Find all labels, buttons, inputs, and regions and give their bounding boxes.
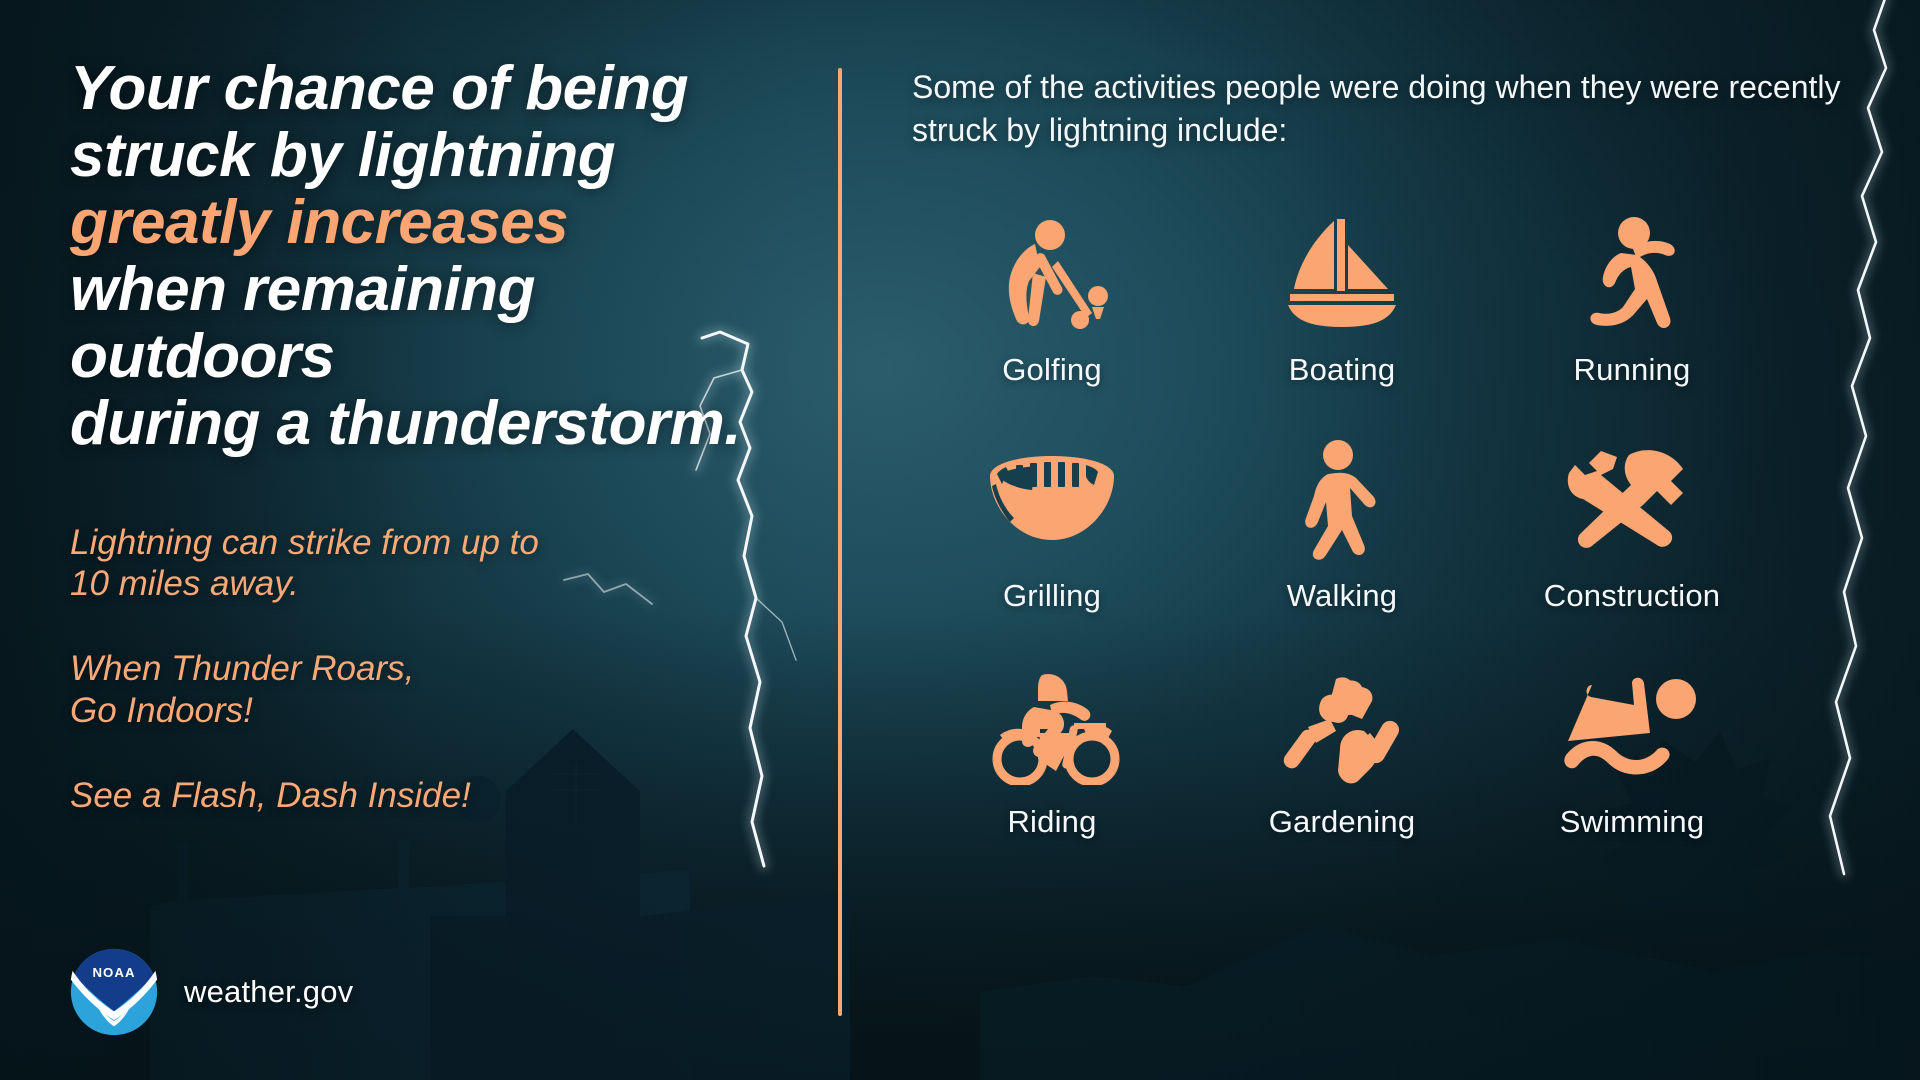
activity-item-walking: Walking: [1202, 436, 1482, 614]
activity-label: Running: [1574, 352, 1691, 388]
headline-accent: greatly increases: [70, 190, 810, 257]
headline-line-5: during a thunderstorm.: [70, 391, 810, 458]
tagline-thunder: When Thunder Roars, Go Indoors!: [70, 648, 770, 731]
left-panel: Your chance of being struck by lightning…: [0, 0, 840, 1080]
boating-icon: [1262, 210, 1422, 338]
activity-item-gardening: Gardening: [1202, 662, 1482, 840]
activity-label: Construction: [1544, 578, 1720, 614]
construction-icon: [1552, 436, 1712, 564]
noaa-logo-text: NOAA: [92, 965, 135, 980]
activity-label: Golfing: [1002, 352, 1102, 388]
headline-line-1: Your chance of being: [70, 56, 810, 123]
gardening-icon: [1262, 662, 1422, 790]
activity-item-riding: Riding: [912, 662, 1192, 840]
activity-label: Boating: [1289, 352, 1396, 388]
activity-label: Swimming: [1560, 804, 1705, 840]
activity-item-golfing: Golfing: [912, 210, 1192, 388]
footer-branding: NOAA weather.gov: [70, 948, 353, 1036]
riding-icon: [972, 662, 1132, 790]
weather-gov-label: weather.gov: [184, 974, 353, 1010]
tagline-flash: See a Flash, Dash Inside!: [70, 775, 770, 816]
lightning-safety-infographic: Your chance of being struck by lightning…: [0, 0, 1920, 1080]
activity-item-swimming: Swimming: [1492, 662, 1772, 840]
headline-line-4: when remaining outdoors: [70, 257, 810, 391]
golfing-icon: [972, 210, 1132, 338]
activity-label: Grilling: [1003, 578, 1101, 614]
swimming-icon: [1552, 662, 1712, 790]
activities-intro: Some of the activities people were doing…: [912, 66, 1872, 152]
activity-item-grilling: Grilling: [912, 436, 1192, 614]
tagline-group: Lightning can strike from up to 10 miles…: [70, 522, 770, 816]
activity-item-running: Running: [1492, 210, 1772, 388]
right-panel: Some of the activities people were doing…: [840, 0, 1920, 1080]
grilling-icon: [972, 436, 1132, 564]
noaa-logo-icon: NOAA: [70, 948, 158, 1036]
activity-label: Riding: [1007, 804, 1096, 840]
activity-item-boating: Boating: [1202, 210, 1482, 388]
page-title: Your chance of being struck by lightning…: [70, 56, 810, 458]
activity-label: Gardening: [1269, 804, 1416, 840]
walking-icon: [1262, 436, 1422, 564]
headline-line-2: struck by lightning: [70, 123, 810, 190]
activity-label: Walking: [1287, 578, 1398, 614]
tagline-distance: Lightning can strike from up to 10 miles…: [70, 522, 770, 605]
running-icon: [1552, 210, 1712, 338]
activity-item-construction: Construction: [1492, 436, 1772, 614]
activities-grid: Golfing Boating: [912, 210, 1772, 840]
